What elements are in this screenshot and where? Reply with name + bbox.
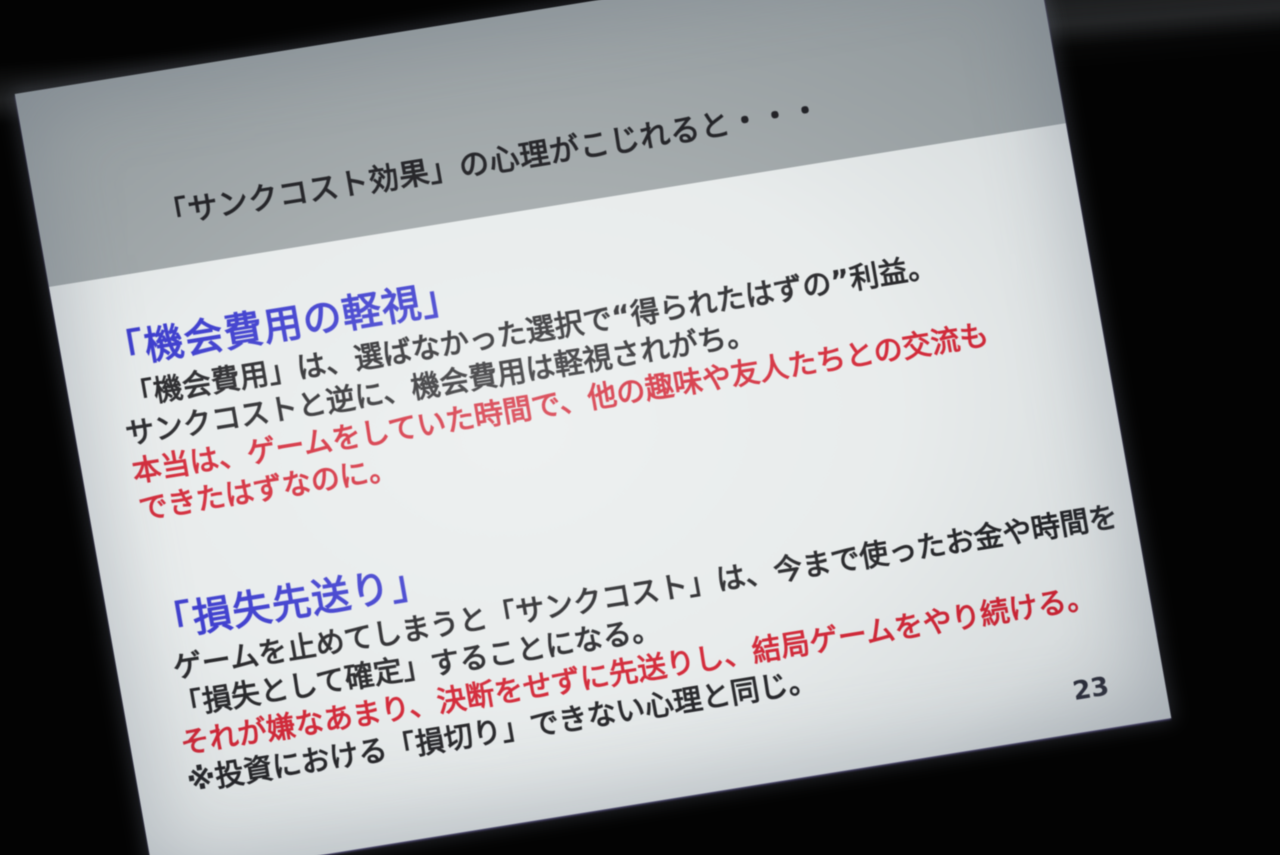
presentation-slide: 「サンクコスト効果」の心理がこじれると・・・ 「機会費用の軽視」 「機会費用」は…: [15, 0, 1172, 855]
slide-page-number: 23: [1070, 672, 1111, 707]
projector-room-scene: 「サンクコスト効果」の心理がこじれると・・・ 「機会費用の軽視」 「機会費用」は…: [0, 0, 1280, 855]
projection-screen: 「サンクコスト効果」の心理がこじれると・・・ 「機会費用の軽視」 「機会費用」は…: [15, 0, 1172, 855]
